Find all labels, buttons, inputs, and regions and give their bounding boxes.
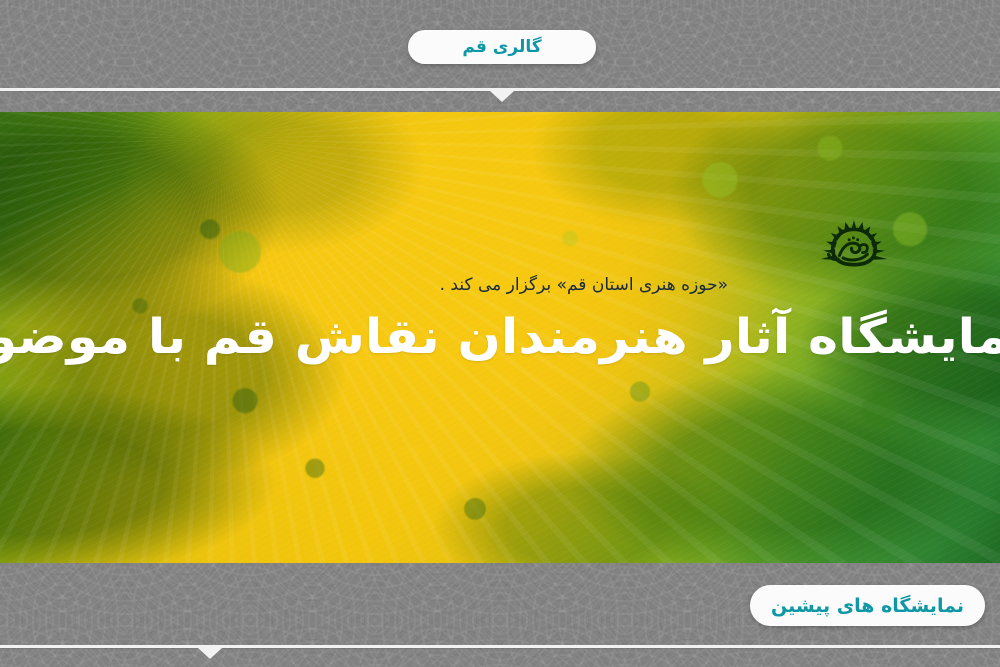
previous-exhibitions-button[interactable]: نمایشگاه های پیشین <box>750 585 985 626</box>
banner-content: «حوزه هنری استان قم» برگزار می کند . نما… <box>0 112 1000 563</box>
exhibition-banner[interactable]: «حوزه هنری استان قم» برگزار می کند . نما… <box>0 112 1000 563</box>
page-root: گالری قم <box>0 0 1000 667</box>
banner-subtitle: «حوزه هنری استان قم» برگزار می کند . <box>440 275 728 295</box>
bottom-divider-rule <box>0 645 1000 648</box>
banner-headline: نمایشگاه آثار هنرمندان نقاش قم با موضوع … <box>0 309 1000 365</box>
previous-exhibitions-button-label: نمایشگاه های پیشین <box>771 595 964 617</box>
gallery-qom-button[interactable]: گالری قم <box>408 30 596 64</box>
bottom-arrow-down-icon <box>198 648 222 659</box>
top-arrow-down-icon <box>490 91 514 102</box>
gallery-qom-button-label: گالری قم <box>462 37 541 57</box>
howzeh-honari-logo-icon <box>816 219 892 275</box>
